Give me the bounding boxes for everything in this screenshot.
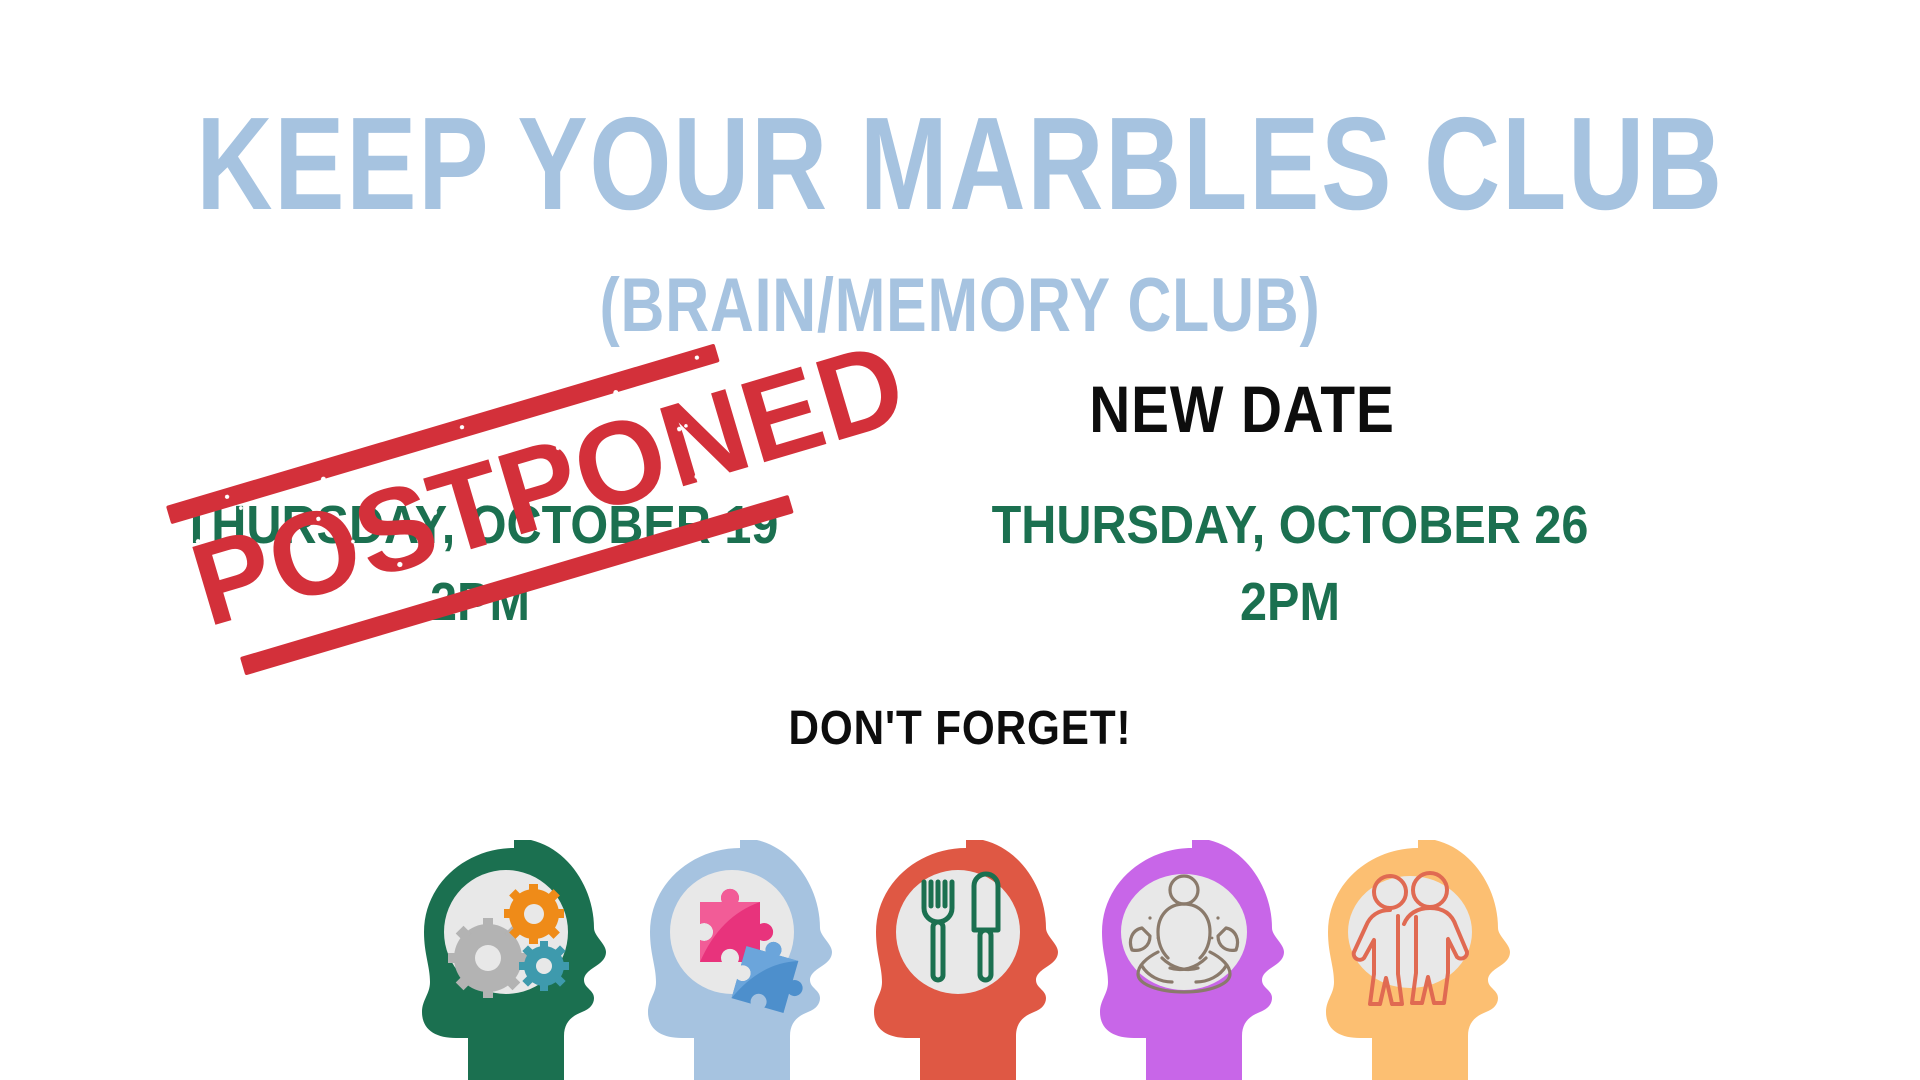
new-date-time: 2PM (912, 564, 1668, 641)
new-date-block: THURSDAY, OCTOBER 26 2PM (870, 487, 1710, 640)
two-people-icon (1314, 840, 1526, 1080)
poster-canvas: KEEP YOUR MARBLES CLUB (BRAIN/MEMORY CLU… (0, 0, 1920, 1080)
head-icons-row (410, 840, 1550, 1080)
puzzle-icon (636, 840, 848, 1080)
page-title: KEEP YOUR MARBLES CLUB (192, 98, 1728, 230)
new-date-line: THURSDAY, OCTOBER 26 (912, 487, 1668, 564)
head-social (1314, 840, 1526, 1080)
head-nutrition (862, 840, 1074, 1080)
old-date-time: 2PM (138, 564, 822, 641)
old-date-block: THURSDAY, OCTOBER 19 2PM (100, 487, 860, 640)
fork-knife-icon (862, 840, 1074, 1080)
new-date-heading: NEW DATE (1044, 376, 1440, 442)
meditation-icon (1088, 840, 1300, 1080)
reminder-text: DON'T FORGET! (115, 705, 1805, 753)
page-subtitle: (BRAIN/MEMORY CLUB) (192, 268, 1728, 344)
gears-icon (410, 840, 622, 1080)
head-mindfulness (1088, 840, 1300, 1080)
head-gears (410, 840, 622, 1080)
head-puzzle (636, 840, 848, 1080)
old-date-line: THURSDAY, OCTOBER 19 (138, 487, 822, 564)
